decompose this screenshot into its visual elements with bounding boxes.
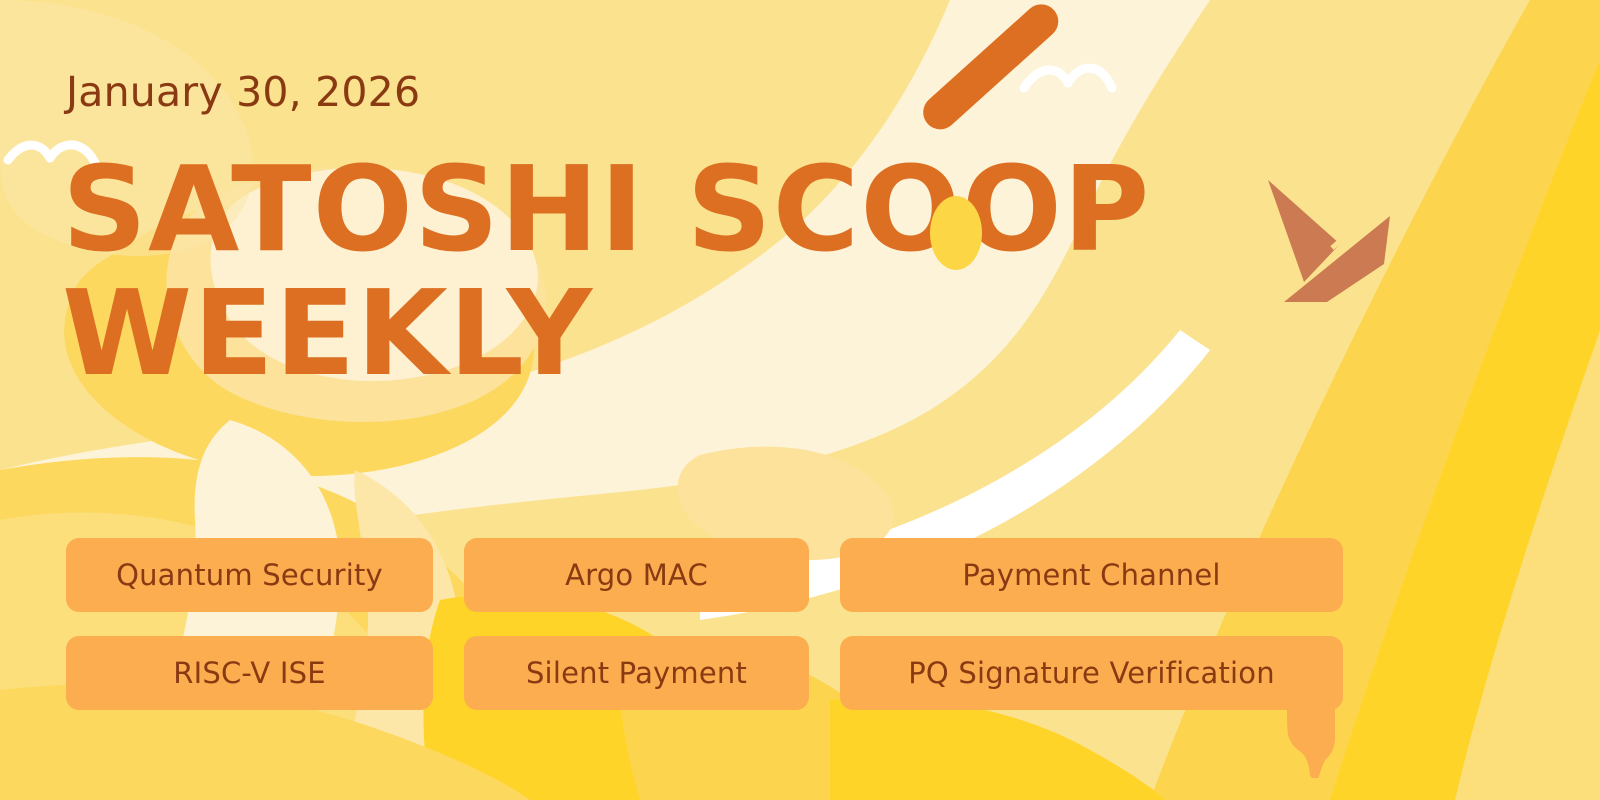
topic-tag-argo-mac[interactable]: Argo MAC (464, 538, 809, 612)
title-line-secondary: WEEKLY (62, 276, 1312, 392)
topic-tag-risc-v-ise[interactable]: RISC-V ISE (66, 636, 433, 710)
topic-tag-pq-signature-verification[interactable]: PQ Signature Verification (840, 636, 1343, 710)
newsletter-banner: January 30, 2026 SATOSHI SCOOP WEEKLY Qu… (0, 0, 1600, 800)
drip-shape (1287, 708, 1335, 778)
scoop-handle-icon (916, 0, 1065, 136)
topic-tag-payment-channel[interactable]: Payment Channel (840, 538, 1343, 612)
sailboat-icon (1262, 172, 1402, 302)
topic-tag-label: Argo MAC (565, 558, 708, 592)
scoop-bowl-icon (930, 196, 982, 270)
topic-tag-label: RISC-V ISE (173, 656, 325, 690)
topic-tag-label: PQ Signature Verification (908, 656, 1275, 690)
topic-tag-label: Payment Channel (962, 558, 1220, 592)
issue-date: January 30, 2026 (66, 68, 420, 116)
page-title: SATOSHI SCOOP WEEKLY (62, 152, 1312, 391)
topic-tag-row-2: RISC-V ISE Silent Payment PQ Signature V… (66, 636, 1343, 710)
topic-tag-row-1: Quantum Security Argo MAC Payment Channe… (66, 538, 1343, 612)
topic-tag-label: Silent Payment (526, 656, 747, 690)
paint-drip-icon (1287, 708, 1335, 778)
title-line-primary: SATOSHI SCOOP (62, 152, 1312, 268)
topic-tag-list: Quantum Security Argo MAC Payment Channe… (66, 538, 1343, 710)
topic-tag-label: Quantum Security (116, 558, 383, 592)
topic-tag-silent-payment[interactable]: Silent Payment (464, 636, 809, 710)
topic-tag-quantum-security[interactable]: Quantum Security (66, 538, 433, 612)
